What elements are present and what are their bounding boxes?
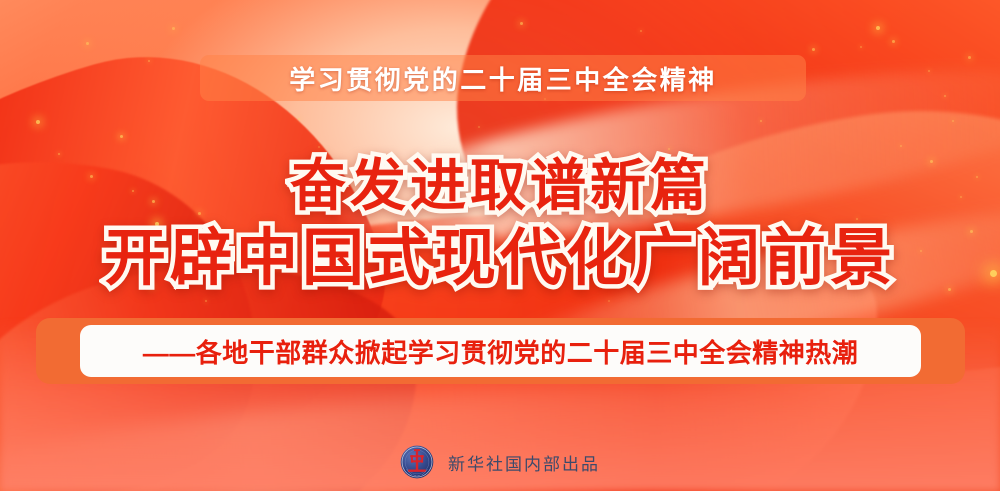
sparkle-particle [640, 30, 642, 32]
sparkle-particle [520, 22, 523, 25]
sparkle-particle [892, 40, 895, 43]
sparkle-particle [36, 120, 40, 124]
sparkle-particle [860, 46, 862, 48]
sparkle-particle [298, 118, 300, 120]
sparkle-particle [876, 26, 880, 30]
sparkle-particle [608, 300, 610, 302]
sparkle-particle [205, 300, 207, 302]
sparkle-particle [760, 120, 762, 122]
sparkle-particle [944, 95, 946, 97]
sparkle-particle [928, 70, 930, 72]
sparkle-particle [668, 148, 670, 150]
top-banner-text: 学习贯彻党的二十届三中全会精神 [289, 60, 717, 97]
sparkle-particle [952, 120, 954, 122]
headline-line-2: 开辟中国式现代化广阔前景 [0, 228, 1000, 290]
sparkle-particle [172, 27, 175, 30]
sparkle-particle [968, 56, 971, 59]
footer-text: 新华社国内部出品 [448, 450, 600, 475]
sparkle-particle [812, 48, 815, 51]
sparkle-particle [478, 126, 480, 128]
sparkle-particle [318, 146, 320, 148]
sparkle-particle [900, 145, 902, 147]
subtitle-text: ——各地干部群众掀起学习贯彻党的二十届三中全会精神热潮 [143, 333, 859, 370]
xinhua-agency-logo-icon [400, 445, 434, 479]
sparkle-particle [148, 60, 150, 62]
subtitle-card: ——各地干部群众掀起学习贯彻党的二十届三中全会精神热潮 [80, 325, 921, 377]
headline-line-1: 奋发进取谱新篇 [0, 158, 1000, 214]
sparkle-particle [120, 135, 123, 138]
sparkle-particle [86, 42, 89, 45]
top-banner: 学习贯彻党的二十届三中全会精神 [200, 55, 806, 101]
footer: 新华社国内部出品 [0, 445, 1000, 479]
poster-canvas: 学习贯彻党的二十届三中全会精神 奋发进取谱新篇 开辟中国式现代化广阔前景 ——各… [0, 0, 1000, 491]
sparkle-particle [58, 153, 60, 155]
page-title: 奋发进取谱新篇 开辟中国式现代化广阔前景 [0, 158, 1000, 290]
